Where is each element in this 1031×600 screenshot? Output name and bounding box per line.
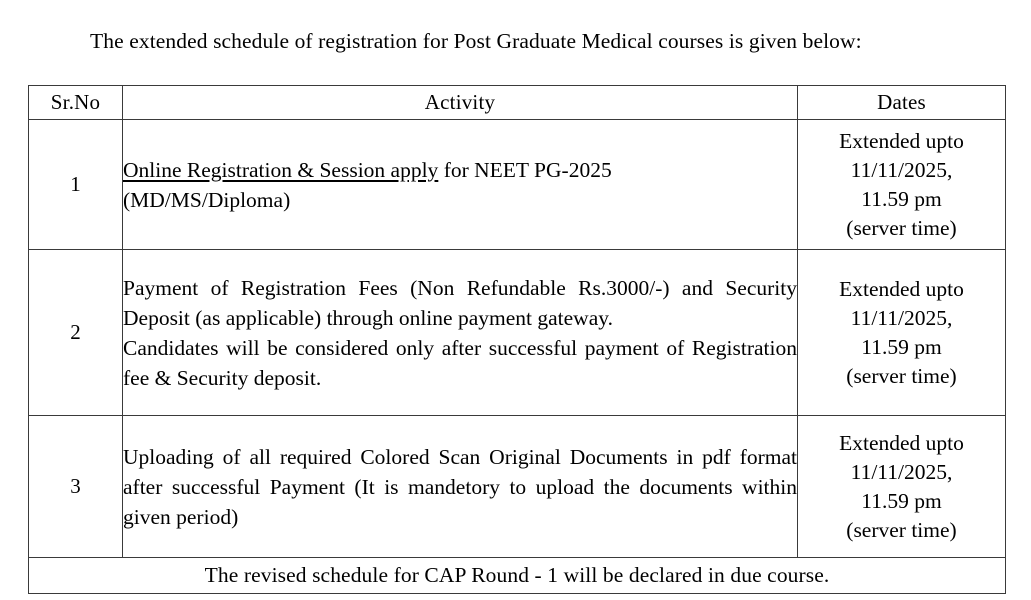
date-line-server-time: (server time) — [798, 516, 1005, 545]
header-activity: Activity — [123, 86, 798, 120]
date-line-date: 11/11/2025, — [798, 304, 1005, 333]
activity-paragraph-1: Payment of Registration Fees (Non Refund… — [123, 273, 797, 333]
date-line-date: 11/11/2025, — [798, 156, 1005, 185]
header-sr-no: Sr.No — [29, 86, 123, 120]
activity-paragraph-2: Candidates will be considered only after… — [123, 333, 797, 393]
row-dates-cell: Extended upto 11/11/2025, 11.59 pm (serv… — [798, 120, 1006, 250]
row-activity-cell: Payment of Registration Fees (Non Refund… — [123, 250, 798, 416]
date-line-extended: Extended upto — [798, 127, 1005, 156]
date-line-extended: Extended upto — [798, 275, 1005, 304]
date-line-time: 11.59 pm — [798, 333, 1005, 362]
row-dates-cell: Extended upto 11/11/2025, 11.59 pm (serv… — [798, 250, 1006, 416]
date-line-server-time: (server time) — [798, 362, 1005, 391]
schedule-table: Sr.No Activity Dates 1 Online Registrati… — [28, 85, 1006, 594]
activity-text-block: Online Registration & Session apply for … — [123, 155, 797, 185]
header-dates: Dates — [798, 86, 1006, 120]
activity-line2: (MD/MS/Diploma) — [123, 185, 797, 215]
table-row: 3 Uploading of all required Colored Scan… — [29, 416, 1006, 558]
activity-line1-rest: for NEET PG-2025 — [438, 158, 611, 182]
date-line-date: 11/11/2025, — [798, 458, 1005, 487]
intro-paragraph: The extended schedule of registration fo… — [28, 26, 1005, 57]
row-serial-number: 3 — [29, 416, 123, 558]
row-dates-cell: Extended upto 11/11/2025, 11.59 pm (serv… — [798, 416, 1006, 558]
date-line-time: 11.59 pm — [798, 185, 1005, 214]
document-page: The extended schedule of registration fo… — [0, 0, 1031, 600]
row-serial-number: 2 — [29, 250, 123, 416]
table-row: 1 Online Registration & Session apply fo… — [29, 120, 1006, 250]
activity-paragraph-1: Uploading of all required Colored Scan O… — [123, 442, 797, 532]
date-line-time: 11.59 pm — [798, 487, 1005, 516]
table-row: 2 Payment of Registration Fees (Non Refu… — [29, 250, 1006, 416]
date-line-server-time: (server time) — [798, 214, 1005, 243]
table-footer-row: The revised schedule for CAP Round - 1 w… — [29, 558, 1006, 594]
date-line-extended: Extended upto — [798, 429, 1005, 458]
footer-note: The revised schedule for CAP Round - 1 w… — [29, 558, 1006, 594]
row-activity-cell: Uploading of all required Colored Scan O… — [123, 416, 798, 558]
row-activity-cell: Online Registration & Session apply for … — [123, 120, 798, 250]
row-serial-number: 1 — [29, 120, 123, 250]
table-header-row: Sr.No Activity Dates — [29, 86, 1006, 120]
online-registration-link[interactable]: Online Registration & Session apply — [123, 158, 438, 182]
